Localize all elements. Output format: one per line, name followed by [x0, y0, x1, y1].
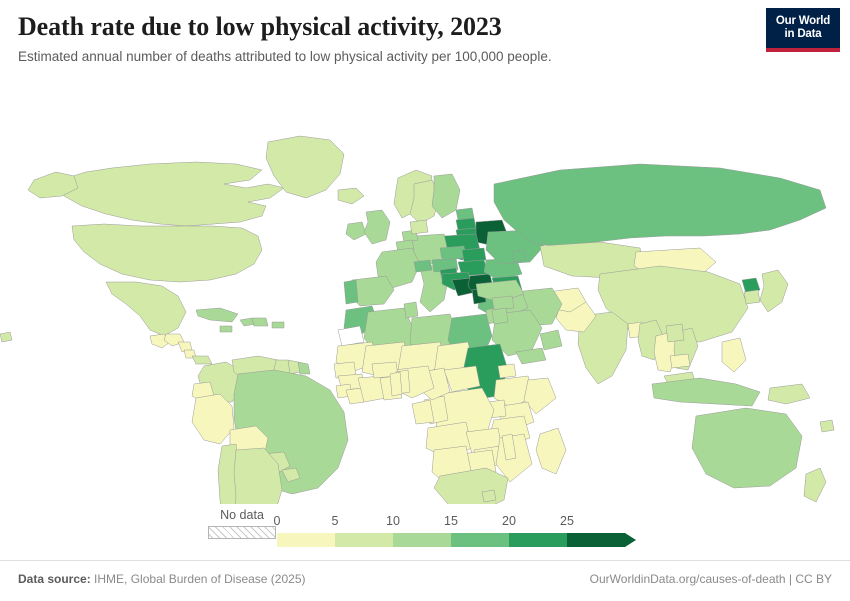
map-region-democratic-republic-of-congo[interactable]: Democratic Republic of Congo: 3 — [412, 400, 434, 424]
map-region-madagascar[interactable]: Madagascar: 3 — [536, 428, 566, 474]
map-region-cuba[interactable]: Cuba: 13 — [220, 326, 232, 332]
map-region-sweden[interactable]: Sweden: 8 — [410, 220, 428, 234]
map-region-czechia[interactable]: Czechia: 18 — [440, 246, 466, 260]
map-region-portugal[interactable]: Portugal: 16 — [344, 280, 358, 304]
legend-bin-2[interactable] — [393, 533, 451, 547]
legend-tick-0: 0 — [274, 513, 281, 529]
legend-bin-4[interactable] — [509, 533, 567, 547]
map-region-thailand[interactable]: Thailand: 4 — [670, 354, 690, 368]
map-region-cuba[interactable]: Cuba: 13 — [252, 318, 268, 326]
map-region-western-sahara[interactable]: Western Sahara: No data — [338, 326, 364, 346]
map-region-nigeria[interactable]: Nigeria: 3 — [390, 372, 402, 396]
logo-line-1: Our World — [776, 15, 830, 28]
legend-color-bins[interactable] — [277, 533, 625, 547]
map-region-new-zealand[interactable]: New Zealand: 9 — [804, 468, 826, 502]
map-svg: Canada: 9Greenland: 9United States: 9Uni… — [0, 84, 850, 504]
map-region-south-korea[interactable]: South Korea: 7 — [744, 290, 760, 304]
map-region-colombia[interactable]: Colombia: 8 — [192, 356, 212, 364]
map-region-iraq[interactable]: Iraq: 14 — [492, 308, 508, 324]
legend-no-data[interactable]: No data — [208, 508, 276, 539]
footer-source: Data source: IHME, Global Burden of Dise… — [18, 571, 305, 587]
map-region-russia[interactable]: Russia: 18 — [494, 164, 826, 246]
legend-bin-1[interactable] — [335, 533, 393, 547]
page-title: Death rate due to low physical activity,… — [18, 12, 832, 42]
legend-tick-5: 5 — [332, 513, 339, 529]
map-region-united-kingdom[interactable]: United Kingdom: 12 — [364, 210, 390, 244]
map-region-australia[interactable]: Australia: 12 — [692, 408, 802, 488]
map-region-norway[interactable]: Norway: 8 — [338, 188, 364, 204]
map-region-south-africa[interactable]: South Africa: 8 — [482, 490, 496, 502]
map-region-vietnam[interactable]: Vietnam: 8 — [666, 324, 684, 342]
world-choropleth-map[interactable]: Canada: 9Greenland: 9United States: 9Uni… — [0, 84, 850, 504]
map-region-saudi-arabia[interactable]: Saudi Arabia: 13 — [540, 330, 562, 350]
legend-tick-15: 15 — [444, 513, 458, 529]
legend-no-data-swatch — [208, 526, 276, 539]
map-region-united-states[interactable]: United States: 9 — [72, 224, 262, 282]
map-region-austria[interactable]: Austria: 17 — [414, 260, 432, 272]
map-region-cuba[interactable]: Cuba: 13 — [272, 322, 284, 328]
map-region-brazil[interactable]: Brazil: 13 — [298, 362, 310, 374]
owid-logo[interactable]: Our World in Data — [766, 8, 840, 52]
legend-tick-25: 25 — [560, 513, 574, 529]
map-legend: No data 0510152025 — [0, 505, 850, 555]
legend-bin-5[interactable] — [567, 533, 625, 547]
chart-footer: Data source: IHME, Global Burden of Dise… — [0, 560, 850, 601]
legend-tick-10: 10 — [386, 513, 400, 529]
footer-source-text: IHME, Global Burden of Disease (2025) — [94, 572, 305, 586]
legend-arrow-cap-icon — [625, 533, 636, 547]
map-region-algeria[interactable]: Algeria: 13 — [404, 302, 418, 318]
footer-source-label: Data source: — [18, 572, 91, 586]
map-region-iraq[interactable]: Iraq: 14 — [492, 296, 514, 310]
map-region-ethiopia[interactable]: Ethiopia: 3 — [498, 364, 516, 378]
legend-bin-0[interactable] — [277, 533, 335, 547]
map-region-ireland[interactable]: Ireland: 11 — [346, 222, 366, 240]
map-region-japan[interactable]: Japan: 8 — [760, 270, 788, 312]
owid-chart-page: Death rate due to low physical activity,… — [0, 0, 850, 600]
legend-tick-20: 20 — [502, 513, 516, 529]
map-region-philippines[interactable]: Philippines: 4 — [722, 338, 746, 372]
map-region-cuba[interactable]: Cuba: 13 — [196, 308, 238, 322]
map-region-peru[interactable]: Peru: 4 — [192, 394, 234, 444]
map-region-papua-new-guinea[interactable]: Papua New Guinea: 8 — [820, 420, 834, 432]
map-region-colombia[interactable]: Colombia: 8 — [0, 332, 12, 342]
logo-line-2: in Data — [785, 28, 822, 41]
map-region-romania[interactable]: Romania: 19 — [512, 250, 526, 262]
map-region-canada[interactable]: Canada: 9 — [60, 162, 284, 226]
map-region-papua-new-guinea[interactable]: Papua New Guinea: 8 — [768, 384, 810, 404]
map-region-indonesia[interactable]: Indonesia: 13 — [652, 378, 760, 406]
map-region-mexico[interactable]: Mexico: 9 — [106, 282, 186, 336]
map-region-finland[interactable]: Finland: 12 — [432, 174, 460, 218]
page-subtitle: Estimated annual number of deaths attrib… — [18, 48, 832, 66]
legend-no-data-label: No data — [208, 508, 276, 522]
chart-header: Death rate due to low physical activity,… — [0, 0, 850, 66]
footer-license[interactable]: OurWorldinData.org/causes-of-death | CC … — [590, 571, 832, 587]
legend-bin-3[interactable] — [451, 533, 509, 547]
